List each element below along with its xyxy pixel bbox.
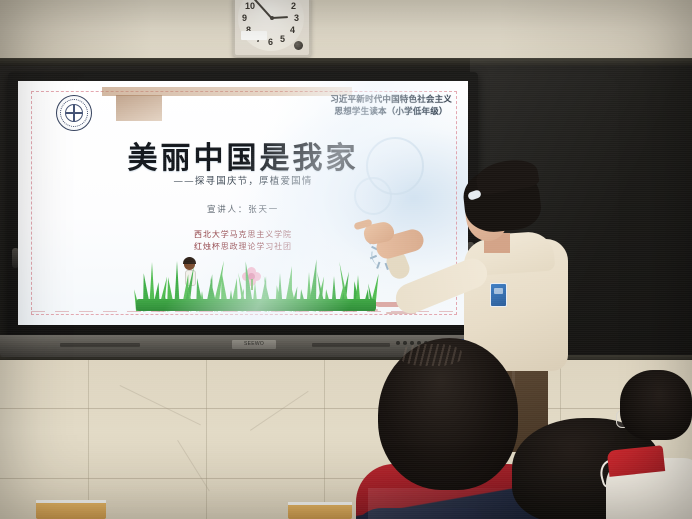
student-right-hair — [620, 370, 692, 440]
clock-numeral-4: 4 — [290, 25, 295, 35]
clock-face-label — [241, 31, 267, 40]
display-vent-left — [60, 343, 140, 347]
clock-numeral-10: 10 — [245, 1, 255, 11]
clock-numeral-3: 3 — [294, 13, 299, 23]
presenter-badge — [490, 283, 507, 307]
clock-pendulum-weight — [294, 41, 303, 50]
student-right — [612, 370, 692, 519]
slide-header-line-2: 思想学生读本（小学低年级） — [330, 107, 452, 119]
clock-numeral-9: 9 — [242, 13, 247, 23]
clock-numeral-5: 5 — [280, 34, 285, 44]
tile-grout-vline-1 — [88, 360, 89, 519]
tile-grout-line-1 — [0, 408, 692, 409]
slide-header: 习近平新时代中国特色社会主义 思想学生读本（小学低年级） — [330, 95, 452, 118]
wall-clock: 12 1 2 3 4 5 6 7 8 9 10 11 Seiko — [233, 0, 311, 57]
grass-illustration — [136, 255, 376, 311]
university-seal-icon — [56, 95, 92, 131]
clock-minute-hand — [253, 0, 272, 18]
classroom-photo: 12 1 2 3 4 5 6 7 8 9 10 11 Seiko — [0, 0, 692, 519]
clock-numeral-2: 2 — [291, 1, 296, 11]
student-front-left-hair-part — [400, 344, 462, 366]
clock-brand-mark: Seiko — [268, 0, 276, 1]
student-desk-center-edge — [288, 502, 352, 505]
screen-reflection-block — [116, 95, 162, 121]
grass-base — [136, 299, 376, 311]
student-desk-left-edge — [36, 500, 106, 503]
student-front-left — [378, 338, 528, 519]
clock-numeral-6: 6 — [268, 37, 273, 47]
tile-grout-vline-2 — [206, 360, 207, 519]
display-brand-label: SEEWO — [232, 340, 276, 349]
slide-header-line-1: 习近平新时代中国特色社会主义 — [330, 95, 452, 107]
tile-grout-vline-3 — [324, 360, 325, 519]
clock-center-pin — [270, 16, 274, 20]
display-brand-plate: SEEWO — [232, 340, 276, 349]
